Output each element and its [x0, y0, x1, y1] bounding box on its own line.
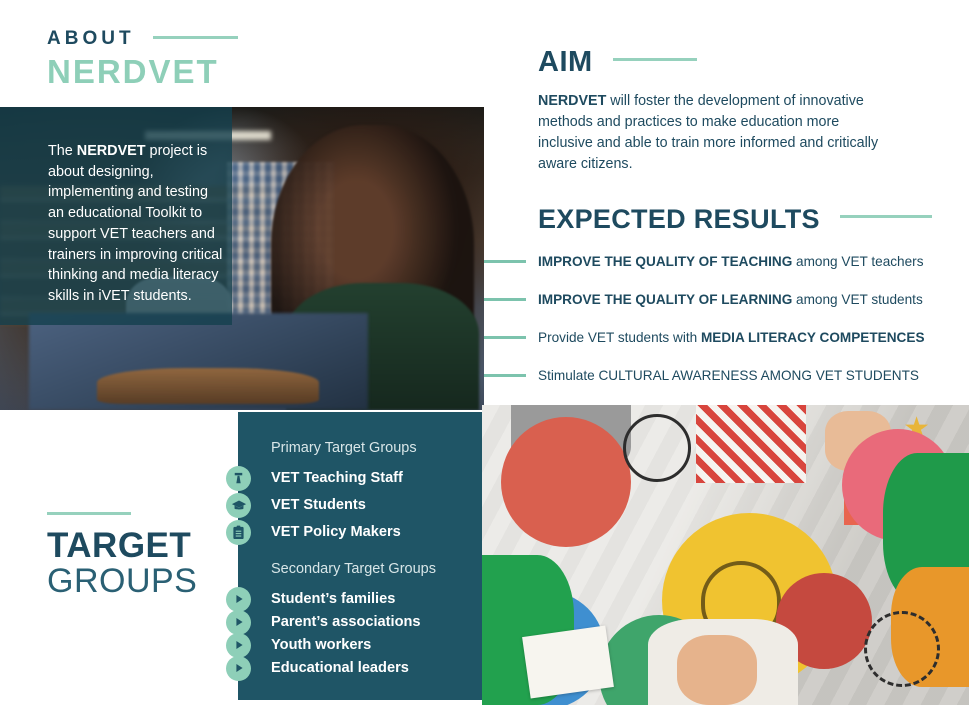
secondary-target-groups-heading: Secondary Target Groups [271, 561, 436, 577]
aim-heading: AIM [538, 46, 697, 79]
expected-result-normal: Stimulate CULTURAL AWARENESS AMONG VET S… [538, 368, 919, 383]
target-groups-rule [47, 512, 131, 515]
play-arrow-icon [226, 633, 251, 658]
expected-results-title: EXPECTED RESULTS [538, 204, 820, 235]
target-groups-heading: TARGET GROUPS [47, 512, 237, 600]
aim-paragraph: NERDVET will foster the development of i… [538, 91, 883, 175]
list-item: VET Students [226, 492, 366, 518]
expected-result-text: Stimulate CULTURAL AWARENESS AMONG VET S… [538, 368, 919, 383]
about-kicker-rule [153, 36, 238, 39]
target-groups-title-light: GROUPS [47, 563, 237, 600]
play-arrow-icon [226, 656, 251, 681]
about-kicker: ABOUT [47, 28, 135, 50]
expected-result-normal: among VET students [792, 292, 922, 307]
expected-result-text: IMPROVE THE QUALITY OF TEACHING among VE… [538, 254, 924, 269]
list-item: Educational leaders [226, 655, 409, 681]
play-arrow-icon [226, 587, 251, 612]
chair-shape [97, 368, 320, 404]
expected-result-normal: among VET teachers [792, 254, 923, 269]
about-paragraph-rest: project is about designing, implementing… [48, 143, 222, 304]
aim-title: AIM [538, 46, 593, 79]
primary-target-groups-heading: Primary Target Groups [271, 440, 417, 456]
target-groups-title-bold: TARGET [47, 528, 237, 563]
expected-result-text: IMPROVE THE QUALITY OF LEARNING among VE… [538, 292, 923, 307]
expected-result-normal: Provide VET students with [538, 330, 701, 345]
list-item-label: Student’s families [271, 591, 395, 607]
drawn-book-circle-shape [501, 417, 631, 547]
list-item: Provide VET students with MEDIA LITERACY… [484, 322, 954, 352]
list-item-label: VET Students [271, 497, 366, 513]
list-item-label: Educational leaders [271, 660, 409, 676]
magnifier-circle-shape [623, 414, 691, 482]
list-item: VET Policy Makers [226, 519, 401, 545]
connector-line-icon [484, 374, 526, 377]
about-brand-title: NERDVET [47, 54, 347, 91]
person-tie-icon [226, 466, 251, 491]
aim-paragraph-brand: NERDVET [538, 93, 606, 109]
about-paragraph: The NERDVET project is about designing, … [48, 141, 226, 307]
hand-lower-shape [677, 635, 757, 705]
list-item-label: Parent’s associations [271, 614, 421, 630]
list-item-label: Youth workers [271, 637, 371, 653]
list-item-label: VET Teaching Staff [271, 470, 403, 486]
play-arrow-icon [226, 610, 251, 635]
expected-results-rule [840, 215, 932, 218]
connector-line-icon [484, 336, 526, 339]
clipboard-icon [226, 520, 251, 545]
list-item-label: VET Policy Makers [271, 524, 401, 540]
list-item: IMPROVE THE QUALITY OF LEARNING among VE… [484, 284, 954, 314]
dashed-circle-shape [864, 611, 940, 687]
paper-note-shape [522, 625, 614, 698]
list-item: VET Teaching Staff [226, 465, 403, 491]
graduation-cap-icon [226, 493, 251, 518]
brainstorming-table-photo: ★ [482, 405, 969, 705]
about-paragraph-lead: The [48, 143, 77, 159]
expected-result-text: Provide VET students with MEDIA LITERACY… [538, 330, 925, 345]
arm-checkered-sleeve-shape [696, 405, 806, 483]
expected-result-bold: IMPROVE THE QUALITY OF LEARNING [538, 292, 792, 307]
expected-result-bold: IMPROVE THE QUALITY OF TEACHING [538, 254, 792, 269]
about-paragraph-brand: NERDVET [77, 143, 146, 159]
connector-line-icon [484, 298, 526, 301]
expected-result-bold: MEDIA LITERACY COMPETENCES [701, 330, 925, 345]
aim-rule [613, 58, 697, 61]
expected-results-heading: EXPECTED RESULTS [538, 204, 932, 235]
expected-results-list: IMPROVE THE QUALITY OF TEACHING among VE… [484, 246, 954, 398]
about-heading: ABOUT NERDVET [47, 28, 347, 91]
infographic-page: ABOUT NERDVET The NERDVET project is abo… [0, 0, 969, 705]
connector-line-icon [484, 260, 526, 263]
list-item: Stimulate CULTURAL AWARENESS AMONG VET S… [484, 360, 954, 390]
list-item: IMPROVE THE QUALITY OF TEACHING among VE… [484, 246, 954, 276]
